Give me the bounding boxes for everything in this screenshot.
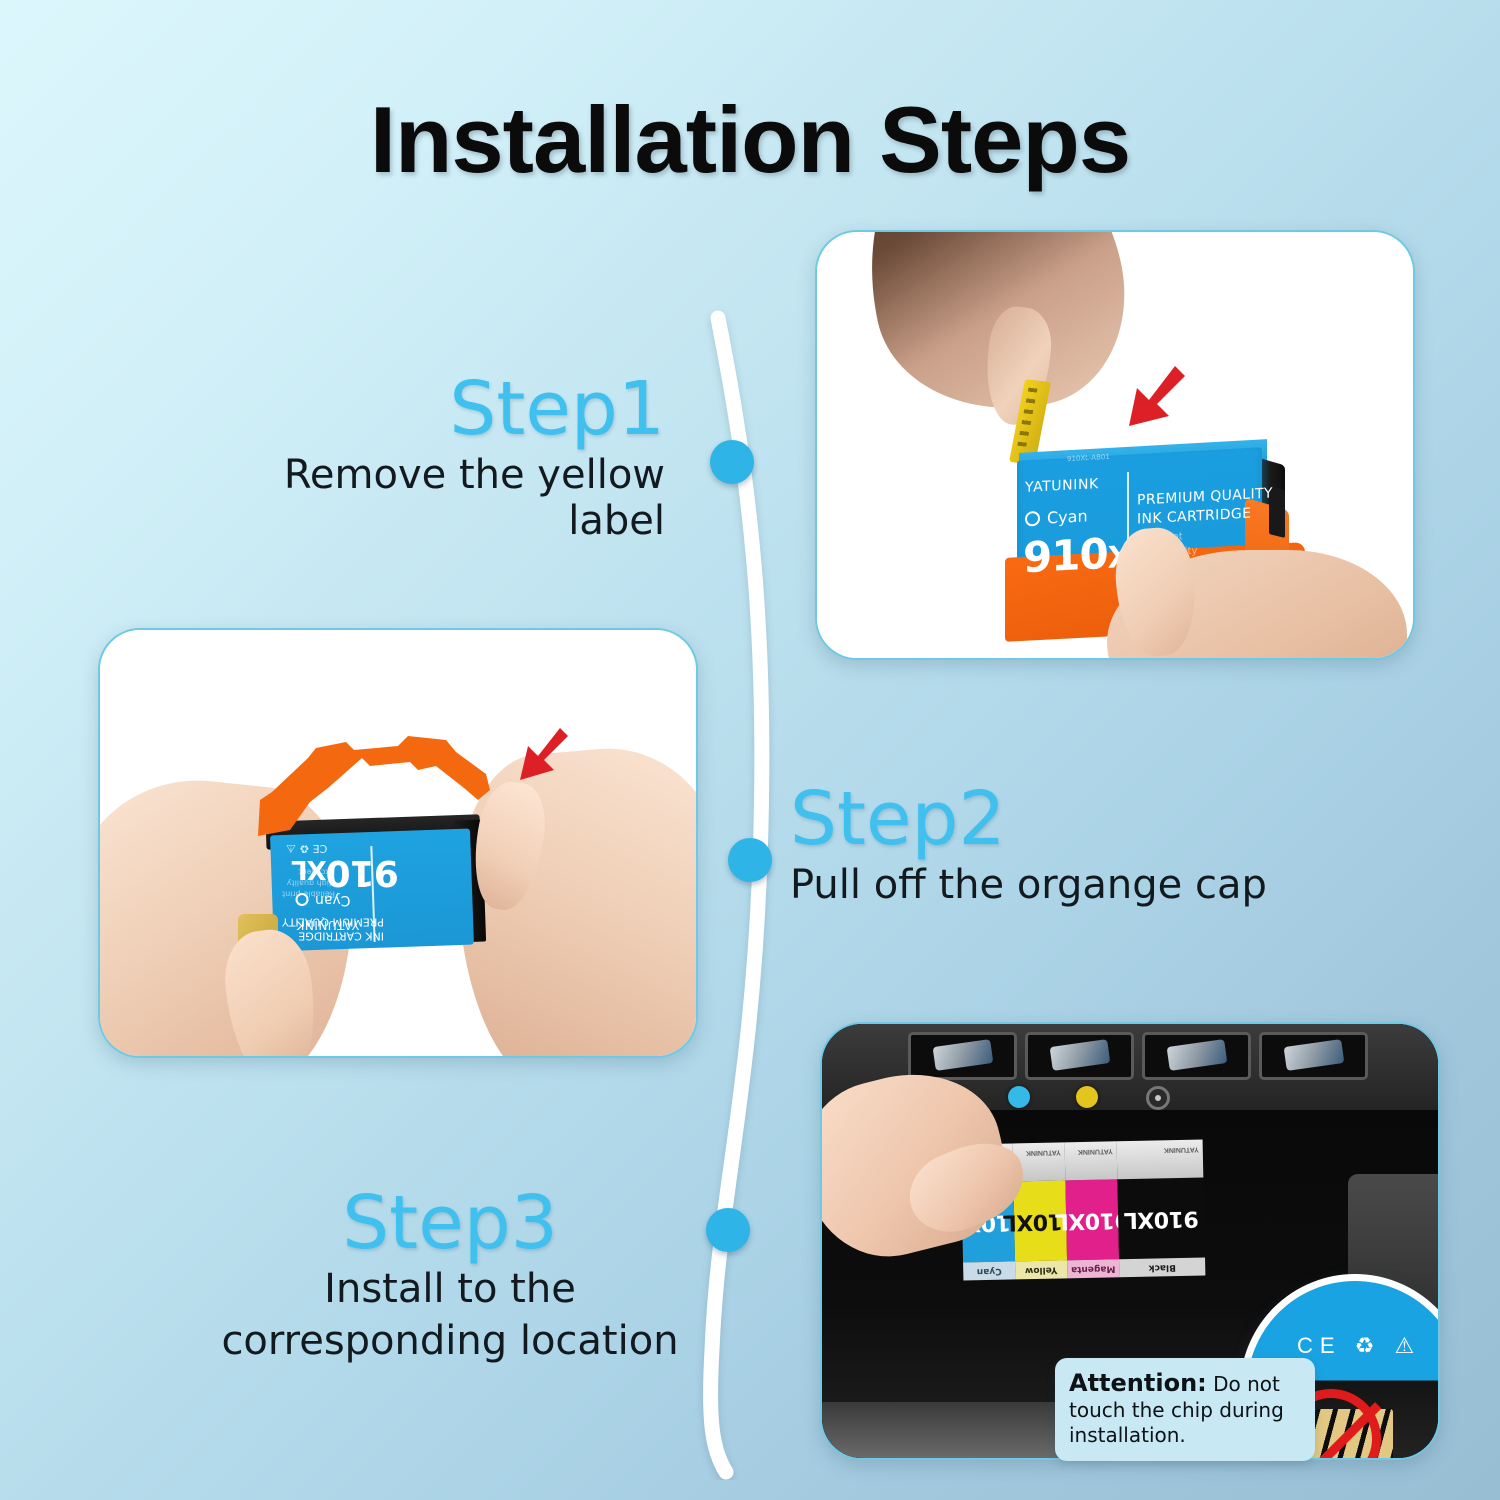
- attention-text: Attention: Do not touch the chip during …: [1069, 1368, 1303, 1449]
- printer-screw: [1146, 1086, 1170, 1110]
- indicator-yellow: [1076, 1086, 1098, 1108]
- printer-slot: [1142, 1032, 1251, 1080]
- step3-description-line1: Install to the: [215, 1266, 685, 1312]
- step1-photo: 910XL-AB01 YATUNINK Cyan 910XL PREMIUM Q…: [815, 230, 1415, 660]
- cartridge-model-label: 910XL: [1124, 1205, 1199, 1232]
- cartridge-color-label: Magenta: [1067, 1259, 1119, 1278]
- cartridge-color-label: Yellow: [1015, 1260, 1067, 1279]
- fine-line-3: Reliable print: [282, 888, 335, 899]
- step1-description: Remove the yellow label: [185, 452, 665, 545]
- premium-line-1: PREMIUM QUALITY: [282, 914, 384, 928]
- printer-slot-bar: [908, 1032, 1368, 1080]
- step1-text-block: Step1 Remove the yellow label: [185, 372, 665, 545]
- cartridge-color-bar: 910XL: [1065, 1179, 1119, 1260]
- cap-brand: YATUNINK: [1164, 1146, 1199, 1154]
- cartridge-color-label: Cyan: [963, 1261, 1015, 1280]
- cartridge-cap: YATUNINK: [1065, 1141, 1118, 1180]
- step3-number: Step3: [215, 1186, 685, 1260]
- compliance-icons: CE ♻ ⚠: [1297, 1333, 1421, 1359]
- red-arrow-icon: [510, 722, 574, 786]
- step2-photo: CE ♻ ⚠ 910XL Cyan YATUNINK INK CARTRIDGE…: [98, 628, 698, 1058]
- cartridge-premium-inverted: INK CARTRIDGE PREMIUM QUALITY: [282, 914, 384, 943]
- printer-slot: [1259, 1032, 1368, 1080]
- fine-line-2: High quality: [282, 877, 335, 888]
- printer-slot: [1025, 1032, 1134, 1080]
- step2-text-block: Step2 Pull off the organge cap: [790, 782, 1350, 908]
- indicator-cyan: [1008, 1086, 1030, 1108]
- cartridge-cap: YATUNINK: [1117, 1139, 1204, 1179]
- orange-cap-being-removed: [250, 730, 500, 840]
- cartridge-color-bar: 910XL: [1117, 1177, 1205, 1259]
- attention-label: Attention:: [1069, 1369, 1207, 1397]
- color-ring-icon: [1025, 511, 1040, 527]
- installed-cartridge-magenta: YATUNINK 910XL Magenta: [1065, 1141, 1120, 1278]
- cartridge-fine-print-inverted: Reliable print High quality Excellent: [282, 866, 335, 900]
- step3-text-block: Step3 Install to the corresponding locat…: [215, 1186, 685, 1365]
- step2-description: Pull off the organge cap: [790, 862, 1350, 908]
- cap-brand: YATUNINK: [1026, 1148, 1061, 1156]
- cap-brand: YATUNINK: [1078, 1147, 1113, 1155]
- timeline-dot-step2: [728, 838, 772, 882]
- fine-line-1: Excellent: [282, 866, 335, 877]
- cartridge-premium-text: PREMIUM QUALITY INK CARTRIDGE: [1137, 484, 1273, 529]
- installed-cartridge-black: YATUNINK 910XL Black: [1117, 1139, 1206, 1277]
- step3-description-line2: corresponding location: [215, 1318, 685, 1364]
- step2-number: Step2: [790, 782, 1350, 856]
- cartridge-color-row: Cyan: [1025, 506, 1088, 528]
- page-title: Installation Steps: [0, 86, 1500, 194]
- red-arrow-icon: [1117, 360, 1191, 434]
- attention-note: Attention: Do not touch the chip during …: [1055, 1358, 1315, 1461]
- cartridge-color-label: Black: [1119, 1257, 1205, 1277]
- timeline-dot-step3: [706, 1208, 750, 1252]
- printer-slot: [908, 1032, 1017, 1080]
- timeline-dot-step1: [710, 440, 754, 484]
- step1-number: Step1: [185, 372, 665, 446]
- cartridge-color-name: Cyan: [1047, 506, 1088, 527]
- premium-line-2: INK CARTRIDGE: [282, 928, 384, 942]
